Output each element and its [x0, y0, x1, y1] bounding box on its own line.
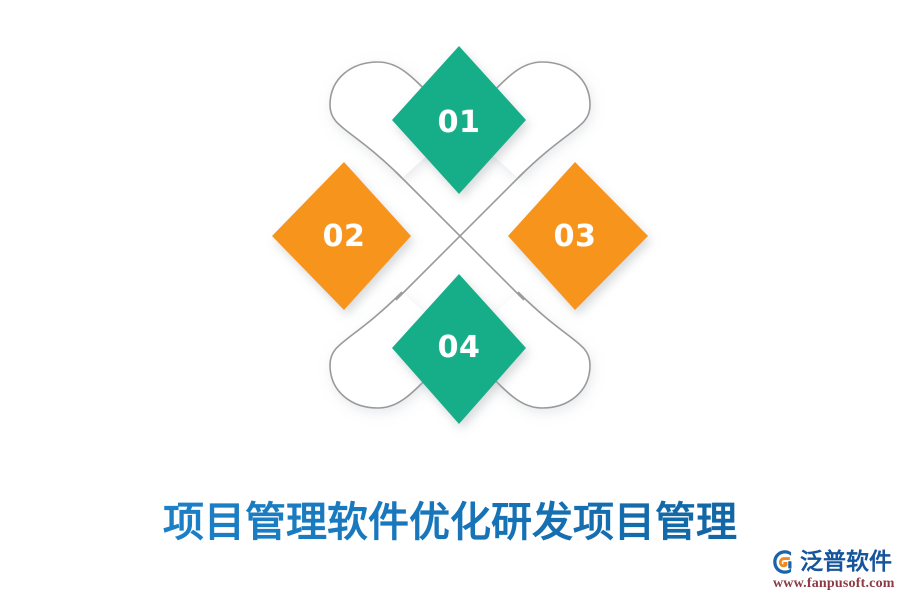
brand-name: 泛普软件 [800, 549, 892, 575]
diamond-node-02[interactable] [272, 162, 411, 310]
diamond-node-03[interactable] [508, 162, 648, 310]
brand-url: www.fanpusoft.com [773, 576, 895, 592]
page-title: 项目管理软件优化研发项目管理 [0, 496, 900, 548]
diagram-container: 01 02 03 04 [0, 0, 900, 470]
fanpu-logo-icon [772, 549, 798, 575]
brand-watermark: 泛普软件 www.fanpusoft.com [772, 549, 894, 595]
four-petal-diamond-diagram [0, 0, 900, 470]
diamond-node-04[interactable] [392, 274, 526, 424]
brand-logo-row: 泛普软件 [772, 549, 892, 575]
